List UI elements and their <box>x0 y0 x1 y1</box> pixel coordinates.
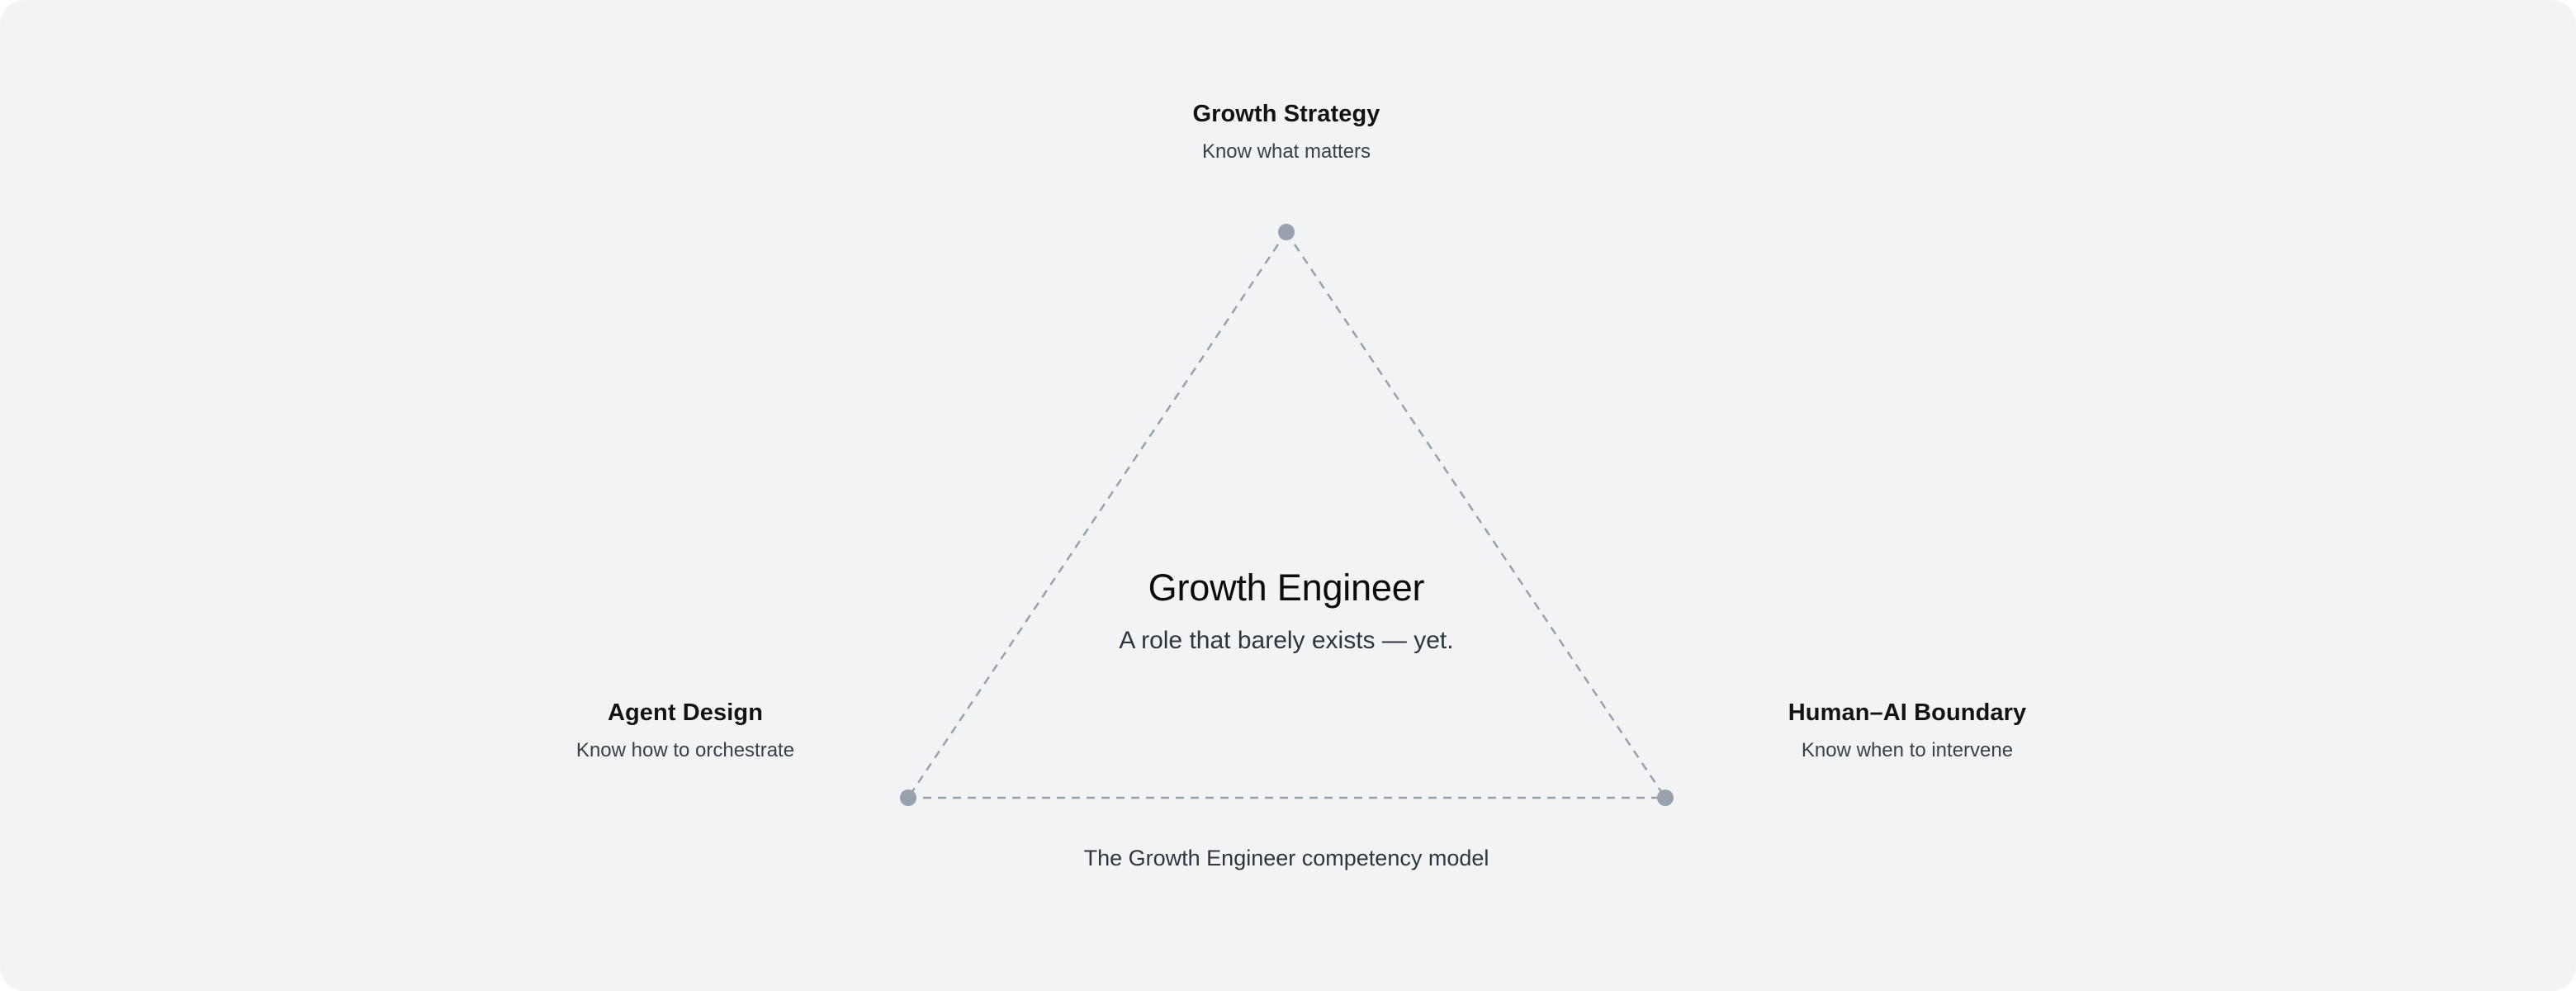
vertex-dot-growth-strategy <box>1278 224 1295 240</box>
vertex-label-human-ai-boundary: Human–AI Boundary Know when to intervene <box>1788 698 2027 763</box>
vertex-label-agent-design: Agent Design Know how to orchestrate <box>576 698 794 763</box>
triangle-edges <box>908 232 1665 798</box>
edge-top-to-right <box>1286 232 1665 798</box>
vertex-dot-agent-design <box>900 789 916 806</box>
triangle-vertex-dots <box>900 224 1674 806</box>
edge-top-to-left <box>908 232 1286 798</box>
diagram-caption: The Growth Engineer competency model <box>1084 846 1489 871</box>
center-label-block: Growth Engineer A role that barely exist… <box>1119 566 1453 656</box>
vertex-title-agent-design: Agent Design <box>576 698 794 728</box>
vertex-dot-human-ai-boundary <box>1657 789 1674 806</box>
vertex-subtitle-growth-strategy: Know what matters <box>1192 140 1380 164</box>
diagram-canvas: Growth Strategy Know what matters Agent … <box>0 0 2576 991</box>
vertex-subtitle-agent-design: Know how to orchestrate <box>576 738 794 763</box>
vertex-title-growth-strategy: Growth Strategy <box>1192 99 1380 129</box>
center-title: Growth Engineer <box>1119 566 1453 610</box>
vertex-subtitle-human-ai-boundary: Know when to intervene <box>1788 738 2027 763</box>
vertex-label-growth-strategy: Growth Strategy Know what matters <box>1192 99 1380 164</box>
center-subtitle: A role that barely exists — yet. <box>1119 626 1453 656</box>
vertex-title-human-ai-boundary: Human–AI Boundary <box>1788 698 2027 728</box>
